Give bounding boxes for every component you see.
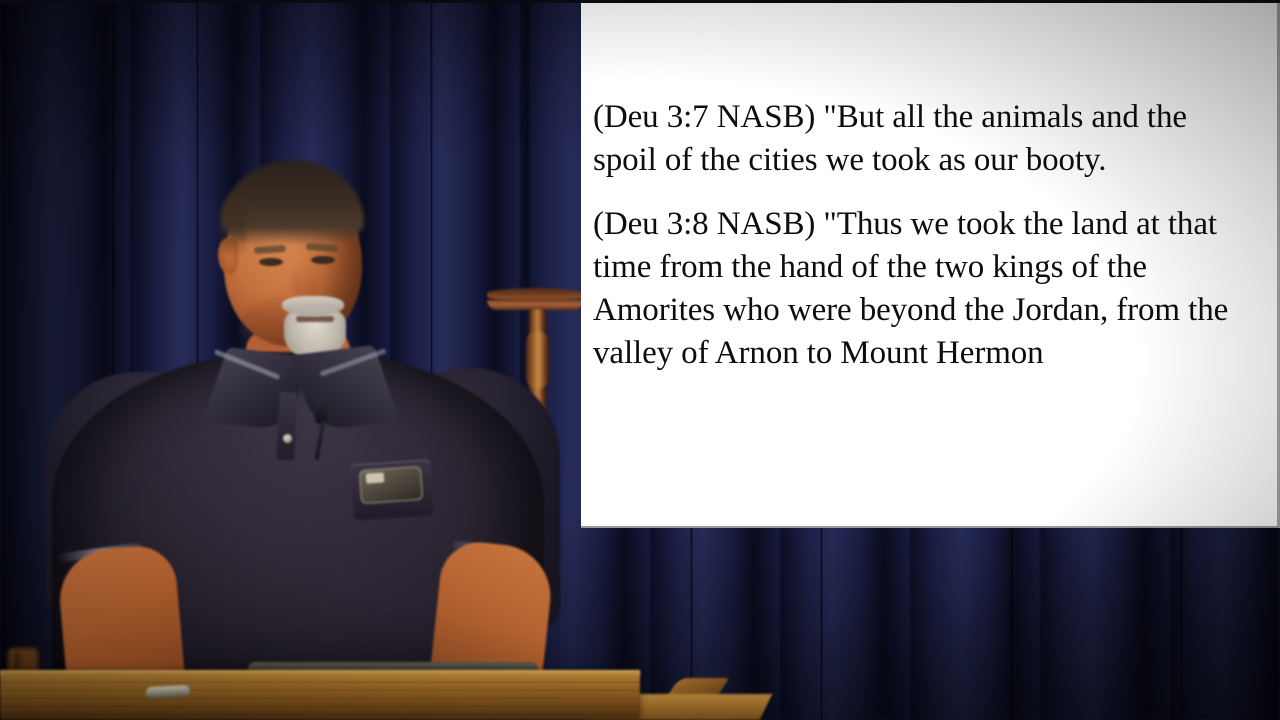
shirt-placket — [276, 392, 298, 461]
wrist-watch — [146, 685, 191, 699]
pocket-phone — [359, 466, 423, 504]
side-table-column-bulge — [526, 332, 549, 388]
video-frame: (Deu 3:7 NASB) "But all the animals and … — [0, 0, 1280, 720]
eye-left — [259, 258, 283, 266]
mouth — [296, 316, 334, 322]
hair-sideburn — [220, 198, 246, 258]
verse-paragraph-2: (Deu 3:8 NASB) "Thus we took the land at… — [593, 203, 1257, 375]
projection-screen: (Deu 3:7 NASB) "But all the animals and … — [581, 0, 1280, 528]
shirt-button — [283, 434, 292, 443]
beige-pillar — [527, 0, 582, 292]
phone-screen — [366, 472, 385, 483]
letterbox-top-line — [0, 0, 1280, 3]
podium-wood-grain — [0, 676, 640, 720]
eye-right — [311, 256, 335, 264]
podium-edge — [0, 670, 640, 675]
verse-paragraph-1: (Deu 3:7 NASB) "But all the animals and … — [593, 96, 1257, 182]
slide-content: (Deu 3:7 NASB) "But all the animals and … — [587, 0, 1275, 528]
mustache — [282, 296, 344, 316]
